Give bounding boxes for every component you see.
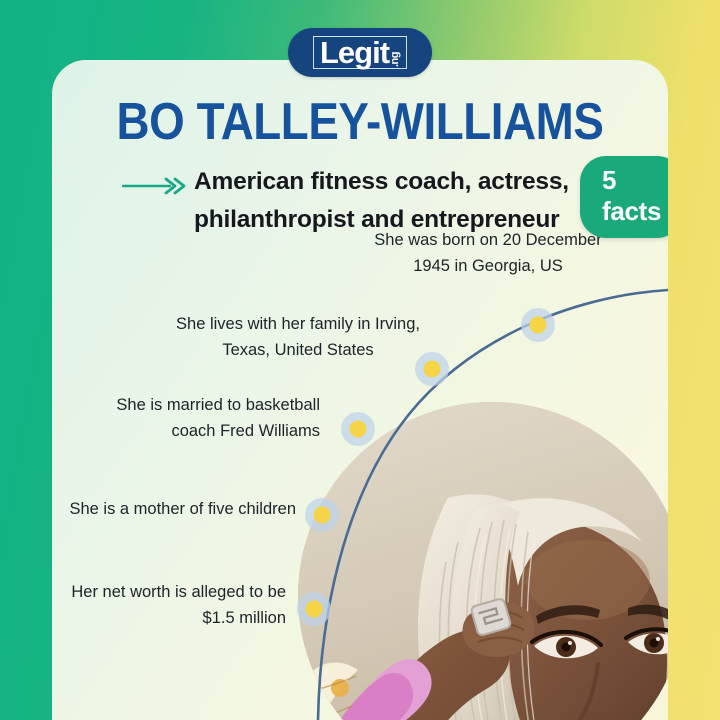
arc-dot-3	[341, 412, 375, 446]
infographic-canvas: BO TALLEY-WILLIAMS American fitness coac…	[0, 0, 720, 720]
fact-birth: She was born on 20 December 1945 in Geor…	[354, 228, 622, 279]
logo-tld: .ng	[390, 49, 401, 67]
page-title: BO TALLEY-WILLIAMS	[89, 92, 631, 152]
arc-dot-1	[521, 308, 555, 342]
logo-inner-frame: Legit .ng	[313, 36, 407, 69]
portrait-photo	[298, 402, 668, 720]
content-card: BO TALLEY-WILLIAMS American fitness coac…	[52, 60, 668, 720]
facts-count-badge: 5 facts	[580, 156, 668, 238]
legit-ng-logo[interactable]: Legit .ng	[288, 28, 432, 77]
logo-wordmark: Legit	[320, 38, 389, 67]
arrow-right-double-chevron-icon	[122, 177, 188, 195]
fact-children: She is a mother of five children	[60, 497, 296, 523]
fact-marriage: She is married to basketball coach Fred …	[88, 393, 320, 444]
fact-networth: Her net worth is alleged to be $1.5 mill…	[52, 580, 286, 631]
fact-residence: She lives with her family in Irving, Tex…	[168, 312, 428, 363]
